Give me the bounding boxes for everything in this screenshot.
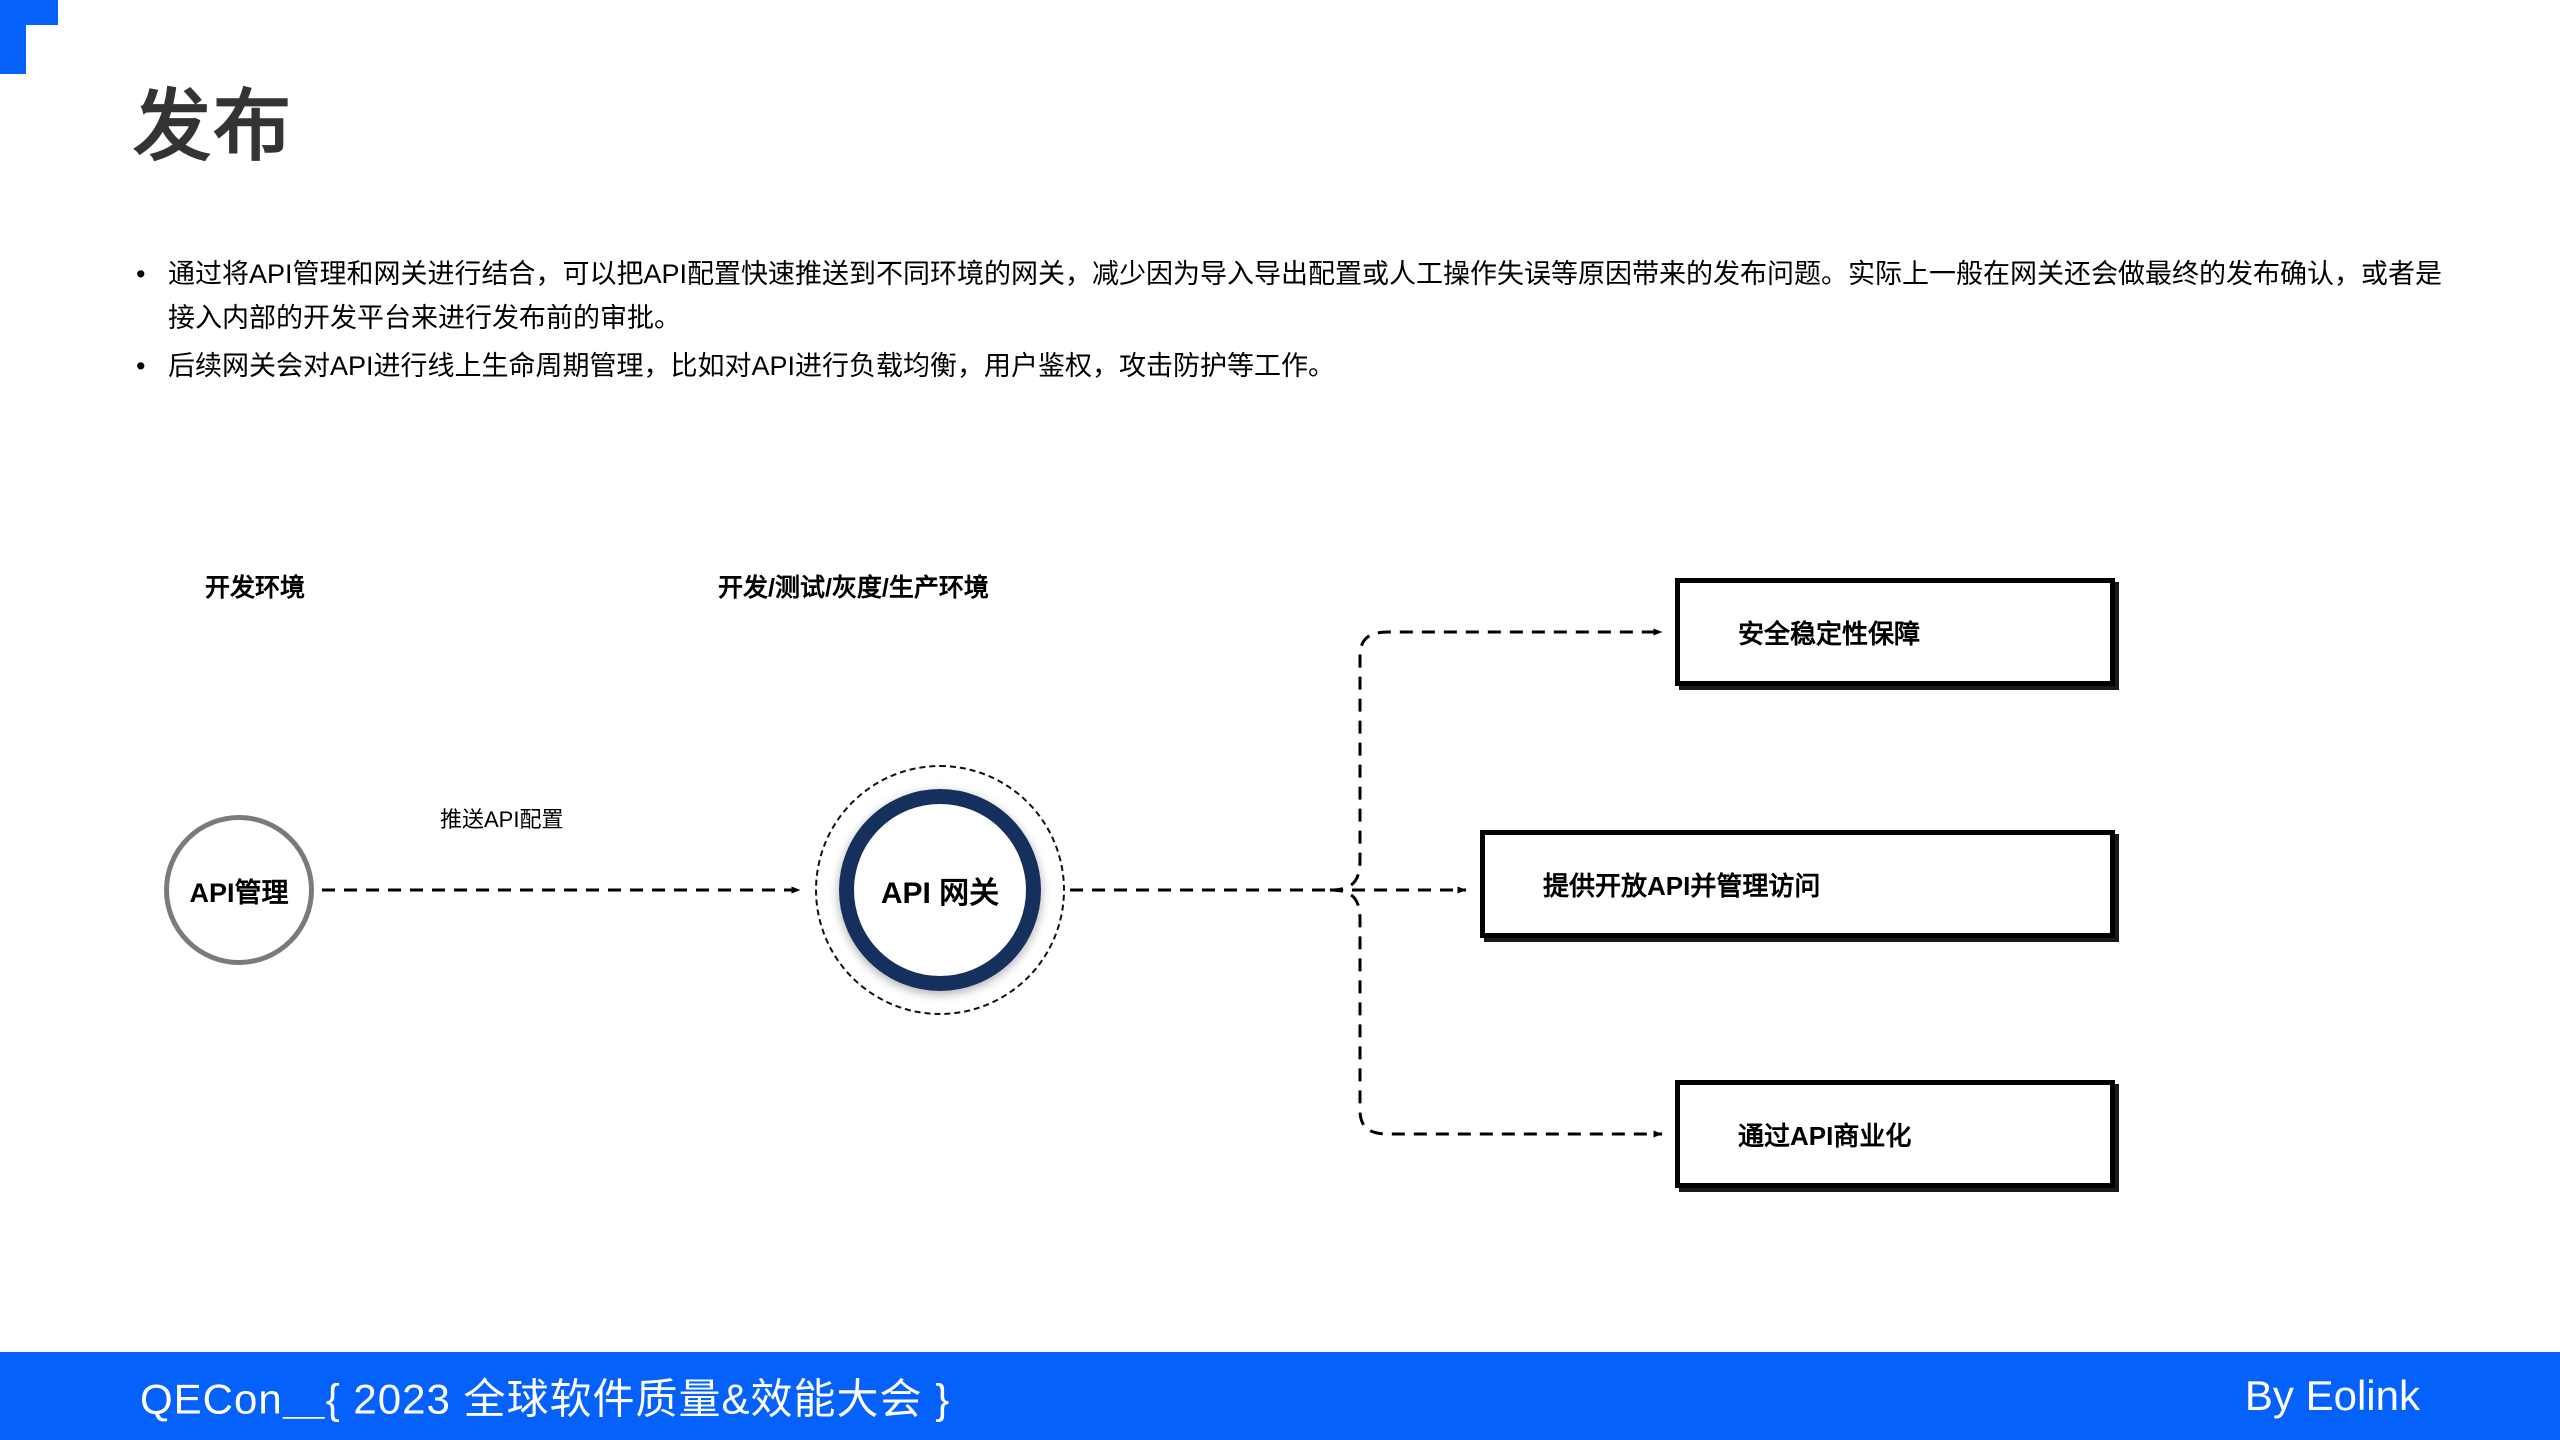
bullet-marker-icon: • (136, 344, 145, 388)
page-title: 发布 (133, 78, 293, 174)
outcome-box-security-label: 安全稳定性保障 (1680, 614, 1920, 651)
node-api-gateway-label: API 网关 (815, 765, 1065, 1015)
corner-accent-bar-vertical (0, 0, 26, 74)
footer-conference-title: QECon＿{ 2023 全球软件质量&效能大会 } (140, 1366, 950, 1427)
outcome-box-monetization[interactable]: 通过API商业化 (1675, 1080, 2115, 1188)
bullet-marker-icon: • (136, 252, 145, 296)
bullet-item-2: • 后续网关会对API进行线上生命周期管理，比如对API进行负载均衡，用户鉴权，… (124, 344, 2454, 388)
outcome-box-open-api-label: 提供开放API并管理访问 (1485, 866, 1820, 903)
slide-canvas: 发布 • 通过将API管理和网关进行结合，可以把API配置快速推送到不同环境的网… (0, 0, 2560, 1440)
node-api-gateway[interactable]: API 网关 (815, 765, 1065, 1015)
outcome-box-security[interactable]: 安全稳定性保障 (1675, 578, 2115, 686)
outcome-box-open-api[interactable]: 提供开放API并管理访问 (1480, 830, 2115, 938)
footer-bar: QECon＿{ 2023 全球软件质量&效能大会 } By Eolink (0, 1352, 2560, 1440)
footer-brand: By Eolink (2245, 1372, 2420, 1420)
corner-accent-mark (0, 0, 58, 74)
bullet-list: • 通过将API管理和网关进行结合，可以把API配置快速推送到不同环境的网关，减… (124, 252, 2454, 392)
bullet-item-1: • 通过将API管理和网关进行结合，可以把API配置快速推送到不同环境的网关，减… (124, 252, 2454, 340)
node-api-management[interactable]: API管理 (164, 815, 314, 965)
bullet-text-1: 通过将API管理和网关进行结合，可以把API配置快速推送到不同环境的网关，减少因… (168, 252, 2454, 340)
edge-label-push-config: 推送API配置 (440, 802, 563, 834)
architecture-diagram: 开发环境 开发/测试/灰度/生产环境 API管理 推送API配置 (0, 520, 2560, 1240)
outcome-box-monetization-label: 通过API商业化 (1680, 1116, 1911, 1153)
node-api-management-label: API管理 (189, 871, 288, 910)
bullet-text-2: 后续网关会对API进行线上生命周期管理，比如对API进行负载均衡，用户鉴权，攻击… (168, 344, 2454, 388)
connector-layer (0, 520, 2560, 1240)
